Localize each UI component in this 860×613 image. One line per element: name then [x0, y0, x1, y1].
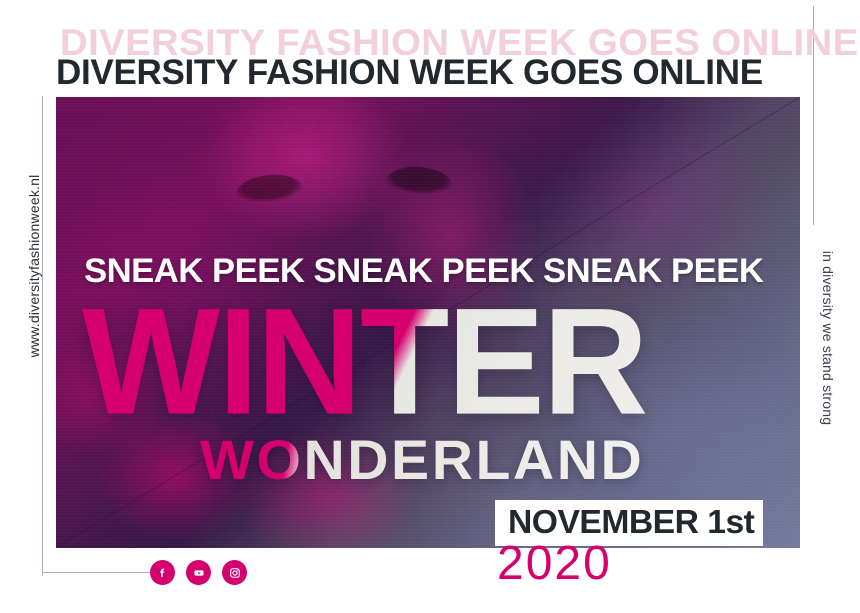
poster-canvas: DIVERSITY FASHION WEEK GOES ONLINE DIVER…	[0, 0, 860, 613]
youtube-icon[interactable]	[186, 560, 211, 585]
page-title: DIVERSITY FASHION WEEK GOES ONLINE	[56, 53, 763, 93]
date-year-label: 2020	[497, 536, 612, 591]
headline-block: DIVERSITY FASHION WEEK GOES ONLINE DIVER…	[56, 22, 816, 92]
social-links	[150, 560, 247, 585]
tagline-vertical-label: in diversity we stand strong	[820, 228, 836, 448]
left-guide-rule	[42, 96, 43, 576]
facebook-icon[interactable]	[150, 560, 175, 585]
website-vertical-label: www.diversityfashionweek.nl	[26, 156, 42, 376]
instagram-icon[interactable]	[222, 560, 247, 585]
bottom-guide-rule	[42, 572, 150, 573]
title-wonderland: WONDERLAND	[200, 427, 644, 492]
title-winter: WINTER	[82, 286, 646, 438]
